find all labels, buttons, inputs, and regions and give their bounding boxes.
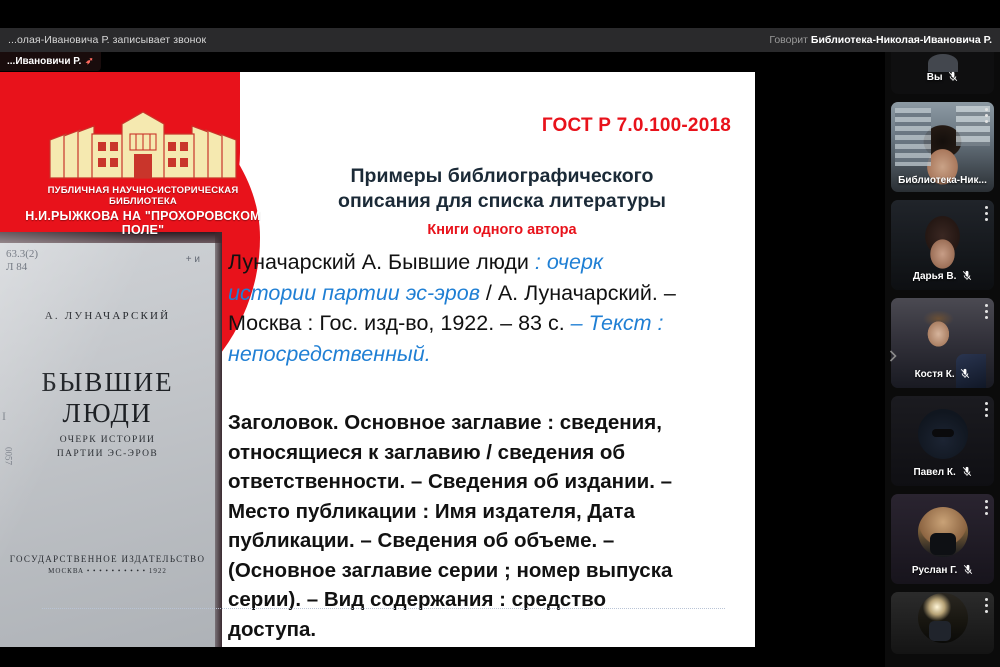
participant-name-text: Руслан Г. bbox=[912, 565, 957, 576]
kebab-menu-icon[interactable] bbox=[985, 598, 988, 613]
logo-line-2: Н.И.РЫЖКОВА НА "ПРОХОРОВСКОМ ПОЛЕ" bbox=[18, 209, 268, 238]
participant-name-text: Костя К. bbox=[915, 369, 955, 380]
logo-line-1: ПУБЛИЧНАЯ НАУЧНО-ИСТОРИЧЕСКАЯ БИБЛИОТЕКА bbox=[18, 186, 268, 208]
speaking-name: Библиотека-Николая-Ивановича Р. bbox=[811, 34, 992, 46]
mic-muted-icon bbox=[963, 564, 973, 578]
active-speaker-indicator: Говорит Библиотека-Николая-Ивановича Р. bbox=[769, 34, 992, 46]
pin-icon: ➶ bbox=[85, 56, 93, 67]
pinned-participant-chip[interactable]: ...Ивановичи Р. ➶ bbox=[0, 52, 101, 71]
meeting-window: ...олая-Ивановича Р. записывает звонок Г… bbox=[0, 0, 1000, 667]
mic-muted-icon bbox=[962, 270, 972, 284]
example-part-1: Луначарский А. Бывшие люди bbox=[228, 250, 535, 274]
slide-subtitle: Книги одного автора bbox=[277, 222, 727, 238]
library-building-icon bbox=[48, 110, 238, 182]
kebab-menu-icon[interactable] bbox=[985, 500, 988, 515]
window-top-strip bbox=[0, 0, 1000, 28]
slide-title-line-2: описания для списка литературы bbox=[338, 190, 666, 212]
participant-tile-pavel[interactable]: Павел К. bbox=[891, 396, 994, 486]
avatar bbox=[918, 593, 968, 643]
slide-divider bbox=[42, 608, 725, 609]
speaking-label: Говорит bbox=[769, 34, 808, 46]
slide-title-line-1: Примеры библиографического bbox=[351, 165, 654, 187]
collapse-panel-button[interactable] bbox=[886, 345, 900, 367]
participant-tile-ruslan[interactable]: Руслан Г. bbox=[891, 494, 994, 584]
kebab-menu-icon[interactable] bbox=[985, 206, 988, 221]
kebab-menu-icon[interactable] bbox=[985, 402, 988, 417]
participant-tile-partial[interactable] bbox=[891, 592, 994, 654]
participant-name: Павел К. bbox=[891, 466, 994, 480]
recording-notice: ...олая-Ивановича Р. записывает звонок bbox=[8, 34, 206, 46]
participant-name: Руслан Г. bbox=[891, 564, 994, 578]
book-photo-glare bbox=[0, 232, 222, 647]
book-cover-photo: 63.3(2) Л 84 I 0057 + и А. ЛУНАЧАРСКИЙ Б… bbox=[0, 232, 222, 647]
kebab-menu-icon[interactable] bbox=[985, 304, 988, 319]
mic-muted-icon bbox=[960, 368, 970, 382]
participants-sidebar[interactable]: Вы Библиотека-Ник... Дарья В. bbox=[885, 52, 1000, 667]
participant-tile-self[interactable]: Вы bbox=[891, 52, 994, 94]
avatar bbox=[918, 507, 968, 557]
participant-name: Библиотека-Ник... bbox=[891, 175, 994, 186]
participant-name-text: Вы bbox=[927, 72, 943, 83]
participant-name-text: Библиотека-Ник... bbox=[898, 175, 987, 186]
top-status-bar: ...олая-Ивановича Р. записывает звонок Г… bbox=[0, 28, 1000, 52]
slide-title: Примеры библиографического описания для … bbox=[277, 164, 727, 215]
shared-screen-stage[interactable]: ПУБЛИЧНАЯ НАУЧНО-ИСТОРИЧЕСКАЯ БИБЛИОТЕКА… bbox=[0, 52, 885, 667]
standard-number: ГОСТ Р 7.0.100-2018 bbox=[542, 115, 731, 137]
participant-tile-kostya[interactable]: Костя К. bbox=[891, 298, 994, 388]
library-logo: ПУБЛИЧНАЯ НАУЧНО-ИСТОРИЧЕСКАЯ БИБЛИОТЕКА… bbox=[18, 110, 268, 238]
participant-name: Костя К. bbox=[891, 368, 994, 382]
kebab-menu-icon[interactable] bbox=[985, 108, 988, 123]
chevron-right-icon bbox=[889, 350, 897, 362]
mic-muted-icon bbox=[948, 71, 958, 85]
participant-tile-library[interactable]: Библиотека-Ник... bbox=[891, 102, 994, 192]
presentation-slide: ПУБЛИЧНАЯ НАУЧНО-ИСТОРИЧЕСКАЯ БИБЛИОТЕКА… bbox=[0, 72, 755, 647]
pinned-participant-name: ...Ивановичи Р. bbox=[7, 56, 81, 67]
participant-name: Вы bbox=[891, 71, 994, 85]
mic-muted-icon bbox=[962, 466, 972, 480]
participant-name-text: Павел К. bbox=[913, 467, 955, 478]
participant-name: Дарья В. bbox=[891, 270, 994, 284]
participant-name-text: Дарья В. bbox=[913, 271, 957, 282]
avatar-silhouette-icon bbox=[928, 54, 958, 72]
bibliographic-example: Луначарский А. Бывшие люди : очерк истор… bbox=[228, 247, 688, 369]
participant-tile-darya[interactable]: Дарья В. bbox=[891, 200, 994, 290]
avatar bbox=[918, 409, 968, 459]
